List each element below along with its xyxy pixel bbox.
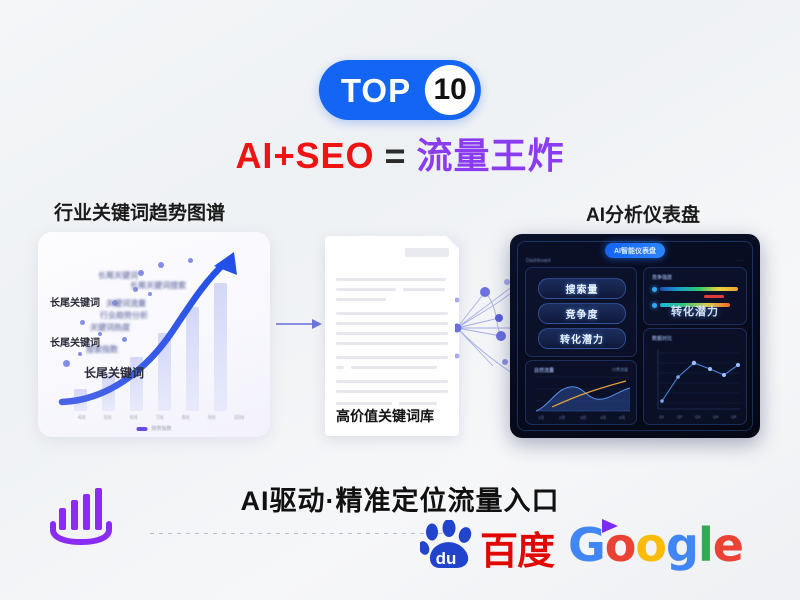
trend-chart-card: 长尾关键词 长尾关键词搜索 关键词流量 行业趋势分析 关键词热度 搜索指数 长尾… [38, 232, 270, 437]
metric-pill-competition[interactable]: 竞争度 [538, 303, 626, 324]
area-x-tick: 2月 [559, 415, 565, 421]
area-x-tick: 4月 [600, 415, 606, 421]
area-x-tick: 3月 [580, 415, 586, 421]
doc-header-block [405, 248, 449, 257]
tagline: AI驱动·精准定位流量入口 [0, 479, 800, 518]
bar-chart-icon [45, 484, 117, 546]
document-title: 高价值关键词库 [336, 406, 434, 426]
gauge-bar-primary [660, 287, 738, 291]
area-x-tick: 5月 [619, 415, 625, 421]
top-number: 10 [425, 65, 475, 115]
baidu-logo: du 百度 [420, 520, 554, 570]
caption-right: AI分析仪表盘 [586, 200, 700, 227]
gauge-overlay-label: 转化潜力 [644, 303, 746, 319]
gauge-panel-title: 竞争强度 [652, 274, 672, 281]
page-fold-corner [446, 236, 459, 249]
google-letter: e [713, 522, 743, 568]
dotted-connector [150, 533, 450, 534]
competition-gauge-panel: 竞争强度 转化潜力 [643, 267, 747, 325]
trend-blur-text: 关键词流量 [106, 298, 146, 309]
dashboard-subtitle: Dashboard [526, 258, 550, 264]
slide-canvas: TOP 10 AI+SEO=流量王炸 行业关键词趋势图谱 AI分析仪表盘 [0, 0, 800, 600]
metric-pill-search-volume[interactable]: 搜索量 [538, 278, 626, 299]
metric-pill-conversion[interactable]: 转化潜力 [538, 328, 626, 349]
play-arrow-icon [596, 517, 620, 535]
area-legend-label: 付费流量 [612, 367, 628, 373]
dashboard-menu-icon[interactable]: ··· [736, 258, 745, 264]
arrow-right-icon [276, 318, 322, 330]
search-engine-logos: du 百度 Google [420, 520, 743, 570]
baidu-du-text: du [436, 549, 457, 568]
trend-blur-text: 长尾关键词搜索 [130, 280, 186, 291]
google-letter: l [698, 522, 713, 568]
keyword-library-document: 高价值关键词库 [325, 236, 459, 436]
dashboard-title-badge: AI智能仪表盘 [605, 243, 665, 258]
trend-blur-text: 行业趋势分析 [100, 310, 148, 321]
data-comparison-panel: 数据对比 Q1 Q2 Q3 Q4 Q5 [643, 328, 747, 425]
ai-dashboard-card: AI智能仪表盘 Dashboard ··· 搜索量 竞争度 转化潜力 自然流量 … [510, 234, 760, 438]
line-chart [644, 329, 746, 424]
headline-equals: = [385, 135, 407, 176]
line-x-tick: Q5 [731, 414, 736, 419]
traffic-area-chart-panel: 自然流量 1月 2月 3月 4月 5月 付费流量 [525, 360, 637, 425]
legend-label: 趋势指数 [151, 425, 171, 432]
gauge-start-dot [652, 287, 657, 292]
trend-chart: 长尾关键词 长尾关键词搜索 关键词流量 行业趋势分析 关键词热度 搜索指数 长尾… [38, 232, 270, 437]
caption-left: 行业关键词趋势图谱 [54, 198, 225, 225]
trend-blur-text: 关键词热度 [90, 322, 130, 333]
legend-swatch [136, 427, 147, 431]
line-x-tick: Q2 [677, 414, 682, 419]
google-logo: Google [568, 522, 743, 568]
area-x-tick: 1月 [538, 415, 544, 421]
top-label: TOP [341, 74, 425, 107]
headline: AI+SEO=流量王炸 [0, 127, 800, 179]
line-x-tick: Q3 [695, 414, 700, 419]
trend-legend: 趋势指数 [136, 425, 171, 432]
trend-label: 长尾关键词 [50, 334, 100, 349]
metric-pills-panel: 搜索量 竞争度 转化潜力 [525, 267, 637, 357]
google-letter: o [635, 522, 666, 568]
line-x-tick: Q1 [659, 414, 664, 419]
top-rank-badge: TOP 10 [319, 60, 481, 120]
trend-label: 长尾关键词 [84, 364, 144, 381]
google-letter: g [666, 522, 698, 568]
line-x-tick: Q4 [713, 414, 718, 419]
trend-label: 长尾关键词 [50, 294, 100, 309]
baidu-cn-text: 百度 [480, 534, 554, 570]
headline-right: 流量王炸 [417, 135, 565, 176]
gauge-bar-alert [704, 295, 724, 298]
headline-left: AI+SEO [235, 135, 374, 176]
baidu-paw-icon: du [420, 520, 478, 570]
